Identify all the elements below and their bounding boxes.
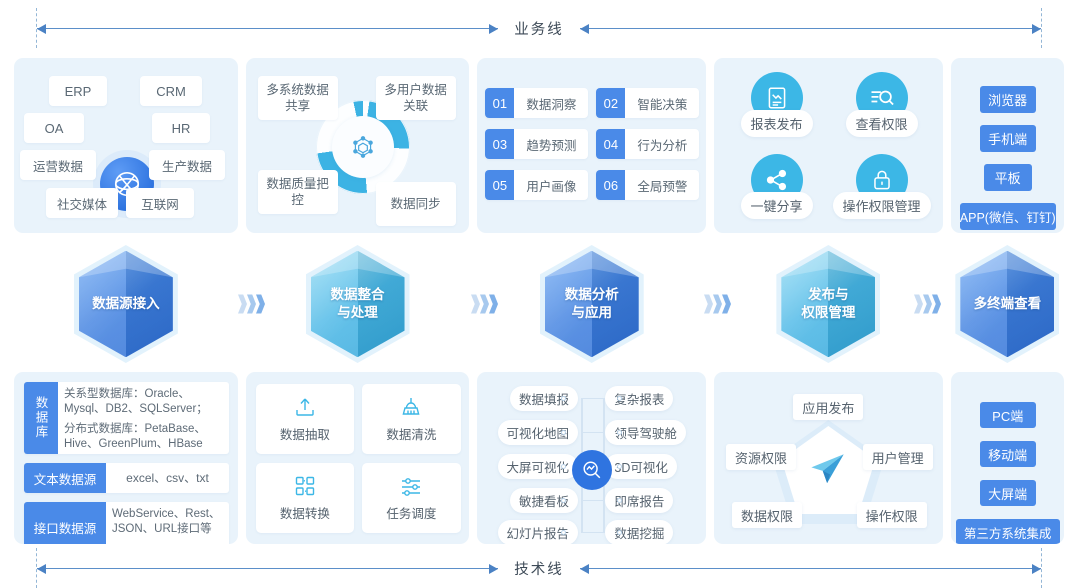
permission-node-user-management[interactable]: 用户管理 <box>863 444 933 470</box>
permission-node-resource[interactable]: 资源权限 <box>726 444 796 470</box>
terminal-chip-app[interactable]: APP(微信、钉钉) <box>960 203 1056 230</box>
etl-item-schedule[interactable]: 任务调度 <box>362 463 461 533</box>
analysis-item-grid: 01 数据洞察 02 智能决策 03 趋势预测 04 行为分析 05 用户画 <box>485 88 699 200</box>
architecture-diagram: 业务线 ERP CRM OA HR 运营数据 生产数据 社交媒体 互联网 <box>0 0 1078 588</box>
analysis-item[interactable]: 06 全局预警 <box>596 170 699 200</box>
etl-item-clean[interactable]: 数据清洗 <box>362 384 461 454</box>
stage-label-line1: 发布与 <box>808 287 849 302</box>
stage-label: 发布与 权限管理 <box>776 245 880 363</box>
top-row: ERP CRM OA HR 运营数据 生产数据 社交媒体 互联网 <box>14 58 1064 233</box>
capability-node[interactable]: 复杂报表 <box>605 386 673 411</box>
permission-node-operation[interactable]: 操作权限 <box>857 502 927 528</box>
analysis-item[interactable]: 02 智能决策 <box>596 88 699 118</box>
analysis-item[interactable]: 04 行为分析 <box>596 129 699 159</box>
broom-clean-icon <box>399 395 423 419</box>
flow-chevron-icon <box>471 295 498 314</box>
analysis-item[interactable]: 05 用户画像 <box>485 170 588 200</box>
mindmap-connector <box>589 500 603 501</box>
integration-chip-multi-system-share[interactable]: 多系统数据共享 <box>258 76 338 120</box>
axis-arrow-left <box>37 28 498 29</box>
source-chip-erp[interactable]: ERP <box>49 76 107 106</box>
stage-publish-permission[interactable]: 发布与 权限管理 <box>714 245 943 363</box>
stage-label-line2: 与应用 <box>571 305 612 320</box>
etl-item-label: 数据抽取 <box>280 424 330 443</box>
axis-dash-right <box>1041 548 1042 588</box>
mindmap-connector <box>589 532 603 533</box>
stage-multi-terminal-view[interactable]: 多终端查看 <box>951 245 1064 363</box>
stage-label-line1: 数据整合 <box>331 287 385 302</box>
publish-item-label: 操作权限管理 <box>833 192 931 219</box>
analysis-item-label: 行为分析 <box>625 129 699 159</box>
stage-label-line1: 数据分析 <box>565 287 619 302</box>
transform-icon <box>293 474 317 498</box>
analytics-search-icon <box>572 450 612 490</box>
database-tag: 接口数据源 <box>24 502 106 544</box>
database-tag: 数据库 <box>24 382 58 454</box>
mindmap: 数据填报 可视化地图 大屏可视化 敏捷看板 幻灯片报告 复杂报表 领导驾驶舱 3… <box>477 372 706 544</box>
database-tag: 文本数据源 <box>24 463 106 493</box>
etl-item-label: 数据转换 <box>280 503 330 522</box>
publish-item-label: 查看权限 <box>846 110 918 137</box>
etl-icon-grid: 数据抽取 数据清洗 <box>256 384 461 533</box>
publish-item-label: 报表发布 <box>741 110 813 137</box>
card-client-endpoints: PC端 移动端 大屏端 第三方系统集成 <box>951 372 1064 544</box>
database-detail: WebService、Rest、JSON、URL接口等 <box>106 502 229 544</box>
analysis-item-number: 06 <box>596 170 625 200</box>
permission-node-app-publish[interactable]: 应用发布 <box>793 394 863 420</box>
capability-node[interactable]: 即席报告 <box>605 488 673 513</box>
stage-label: 数据分析 与应用 <box>540 245 644 363</box>
database-detail-line1: 关系型数据库：Oracle、Mysql、DB2、SQLServer； <box>64 387 223 417</box>
integration-chip-multi-user-relation[interactable]: 多用户数据关联 <box>376 76 456 120</box>
etl-item-extract[interactable]: 数据抽取 <box>256 384 355 454</box>
analysis-item-label: 全局预警 <box>625 170 699 200</box>
etl-item-label: 数据清洗 <box>386 424 436 443</box>
integration-chip-data-sync[interactable]: 数据同步 <box>376 182 456 226</box>
source-chip-operation-data[interactable]: 运营数据 <box>20 150 96 180</box>
card-analysis-capabilities: 数据填报 可视化地图 大屏可视化 敏捷看板 幻灯片报告 复杂报表 领导驾驶舱 3… <box>477 372 706 544</box>
publish-item-label: 一键分享 <box>741 192 813 219</box>
endpoint-chip-list: PC端 移动端 大屏端 第三方系统集成 <box>951 402 1064 544</box>
flow-chevron-icon <box>914 295 941 314</box>
axis-arrow-left <box>37 568 498 569</box>
card-permission-management: 应用发布 资源权限 用户管理 数据权限 操作权限 <box>714 372 943 544</box>
analysis-item-label: 智能决策 <box>625 88 699 118</box>
stage-data-source-access[interactable]: 数据源接入 <box>14 245 238 363</box>
card-data-analysis: 01 数据洞察 02 智能决策 03 趋势预测 04 行为分析 05 用户画 <box>477 58 706 233</box>
analysis-item[interactable]: 03 趋势预测 <box>485 129 588 159</box>
stage-label-line2: 权限管理 <box>801 305 855 320</box>
analysis-item[interactable]: 01 数据洞察 <box>485 88 588 118</box>
source-chip-production-data[interactable]: 生产数据 <box>149 150 225 180</box>
analysis-item-number: 03 <box>485 129 514 159</box>
paper-plane-icon <box>781 426 875 514</box>
stage-data-integration[interactable]: 数据整合 与处理 <box>246 245 470 363</box>
technology-line-label: 技术线 <box>498 558 580 579</box>
publish-item-view-permission[interactable]: 查看权限 <box>829 72 934 144</box>
capability-node[interactable]: 数据挖掘 <box>605 520 673 544</box>
capability-node[interactable]: 3D可视化 <box>605 454 676 479</box>
flow-chevron-icon <box>704 295 731 314</box>
analysis-item-label: 数据洞察 <box>514 88 588 118</box>
analysis-item-label: 趋势预测 <box>514 129 588 159</box>
card-data-sources: ERP CRM OA HR 运营数据 生产数据 社交媒体 互联网 <box>14 58 238 233</box>
database-detail: excel、csv、txt <box>106 463 229 493</box>
terminal-chip-browser[interactable]: 浏览器 <box>980 86 1036 113</box>
analysis-item-number: 05 <box>485 170 514 200</box>
analysis-item-number: 04 <box>596 129 625 159</box>
publish-item-share[interactable]: 一键分享 <box>724 154 829 226</box>
analysis-item-number: 01 <box>485 88 514 118</box>
card-etl-tech: 数据抽取 数据清洗 <box>246 372 470 544</box>
publish-icon-grid: 报表发布 查看权限 <box>724 72 934 226</box>
mindmap-connector <box>589 398 603 399</box>
card-publish-permission: 报表发布 查看权限 <box>714 58 943 233</box>
card-terminals: 浏览器 手机端 平板 APP(微信、钉钉) <box>951 58 1064 233</box>
source-chip-internet[interactable]: 互联网 <box>126 188 194 218</box>
integration-chip-data-quality[interactable]: 数据质量把控 <box>258 170 338 214</box>
terminal-chip-tablet[interactable]: 平板 <box>984 164 1032 191</box>
technology-line-axis: 技术线 <box>0 548 1078 588</box>
publish-item-operation-permission[interactable]: 操作权限管理 <box>829 154 934 226</box>
stage-label: 数据源接入 <box>74 245 178 363</box>
source-chip-oa[interactable]: OA <box>24 113 84 143</box>
endpoint-chip-pc[interactable]: PC端 <box>980 402 1036 428</box>
card-data-source-tech: 数据库 关系型数据库：Oracle、Mysql、DB2、SQLServer； 分… <box>14 372 238 544</box>
stage-data-analysis[interactable]: 数据分析 与应用 <box>477 245 706 363</box>
card-data-integration: 多系统数据共享 多用户数据关联 数据质量把控 数据同步 <box>246 58 470 233</box>
database-detail-line2: 分布式数据库：PetaBase、Hive、GreenPlum、HBase <box>64 422 223 452</box>
source-chip-hr[interactable]: HR <box>152 113 210 143</box>
mindmap-connector <box>589 432 603 433</box>
database-row[interactable]: 接口数据源 WebService、Rest、JSON、URL接口等 <box>24 502 229 544</box>
database-row[interactable]: 文本数据源 excel、csv、txt <box>24 463 229 493</box>
terminal-chip-mobile[interactable]: 手机端 <box>980 125 1036 152</box>
business-line-axis: 业务线 <box>0 8 1078 48</box>
stage-label: 多终端查看 <box>955 245 1059 363</box>
etl-item-transform[interactable]: 数据转换 <box>256 463 355 533</box>
flow-chevron-icon <box>238 295 265 314</box>
axis-dash-right <box>1041 8 1042 48</box>
database-row[interactable]: 数据库 关系型数据库：Oracle、Mysql、DB2、SQLServer； 分… <box>24 382 229 454</box>
database-detail: 关系型数据库：Oracle、Mysql、DB2、SQLServer； 分布式数据… <box>58 382 229 454</box>
capability-node[interactable]: 数据填报 <box>510 386 578 411</box>
upload-icon <box>293 395 317 419</box>
analysis-item-label: 用户画像 <box>514 170 588 200</box>
axis-arrow-right <box>580 568 1041 569</box>
source-chip-social-media[interactable]: 社交媒体 <box>46 188 118 218</box>
stage-row: 数据源接入 数据整合 与处理 <box>14 243 1064 365</box>
sliders-schedule-icon <box>399 474 423 498</box>
axis-arrow-right <box>580 28 1041 29</box>
stage-label-line2: 与处理 <box>337 305 378 320</box>
endpoint-chip-third-party[interactable]: 第三方系统集成 <box>956 519 1060 544</box>
etl-item-label: 任务调度 <box>386 503 436 522</box>
publish-item-report[interactable]: 报表发布 <box>724 72 829 144</box>
bottom-row: 数据库 关系型数据库：Oracle、Mysql、DB2、SQLServer； 分… <box>14 372 1064 544</box>
endpoint-chip-mobile[interactable]: 移动端 <box>980 441 1036 467</box>
capability-node[interactable]: 敏捷看板 <box>510 488 578 513</box>
analysis-item-number: 02 <box>596 88 625 118</box>
permission-node-data[interactable]: 数据权限 <box>732 502 802 528</box>
terminal-chip-list: 浏览器 手机端 平板 APP(微信、钉钉) <box>951 86 1064 230</box>
endpoint-chip-large-screen[interactable]: 大屏端 <box>980 480 1036 506</box>
business-line-label: 业务线 <box>498 18 580 39</box>
stage-label: 数据整合 与处理 <box>306 245 410 363</box>
source-chip-crm[interactable]: CRM <box>140 76 202 106</box>
data-cube-icon <box>332 116 394 178</box>
database-list: 数据库 关系型数据库：Oracle、Mysql、DB2、SQLServer； 分… <box>24 382 229 544</box>
